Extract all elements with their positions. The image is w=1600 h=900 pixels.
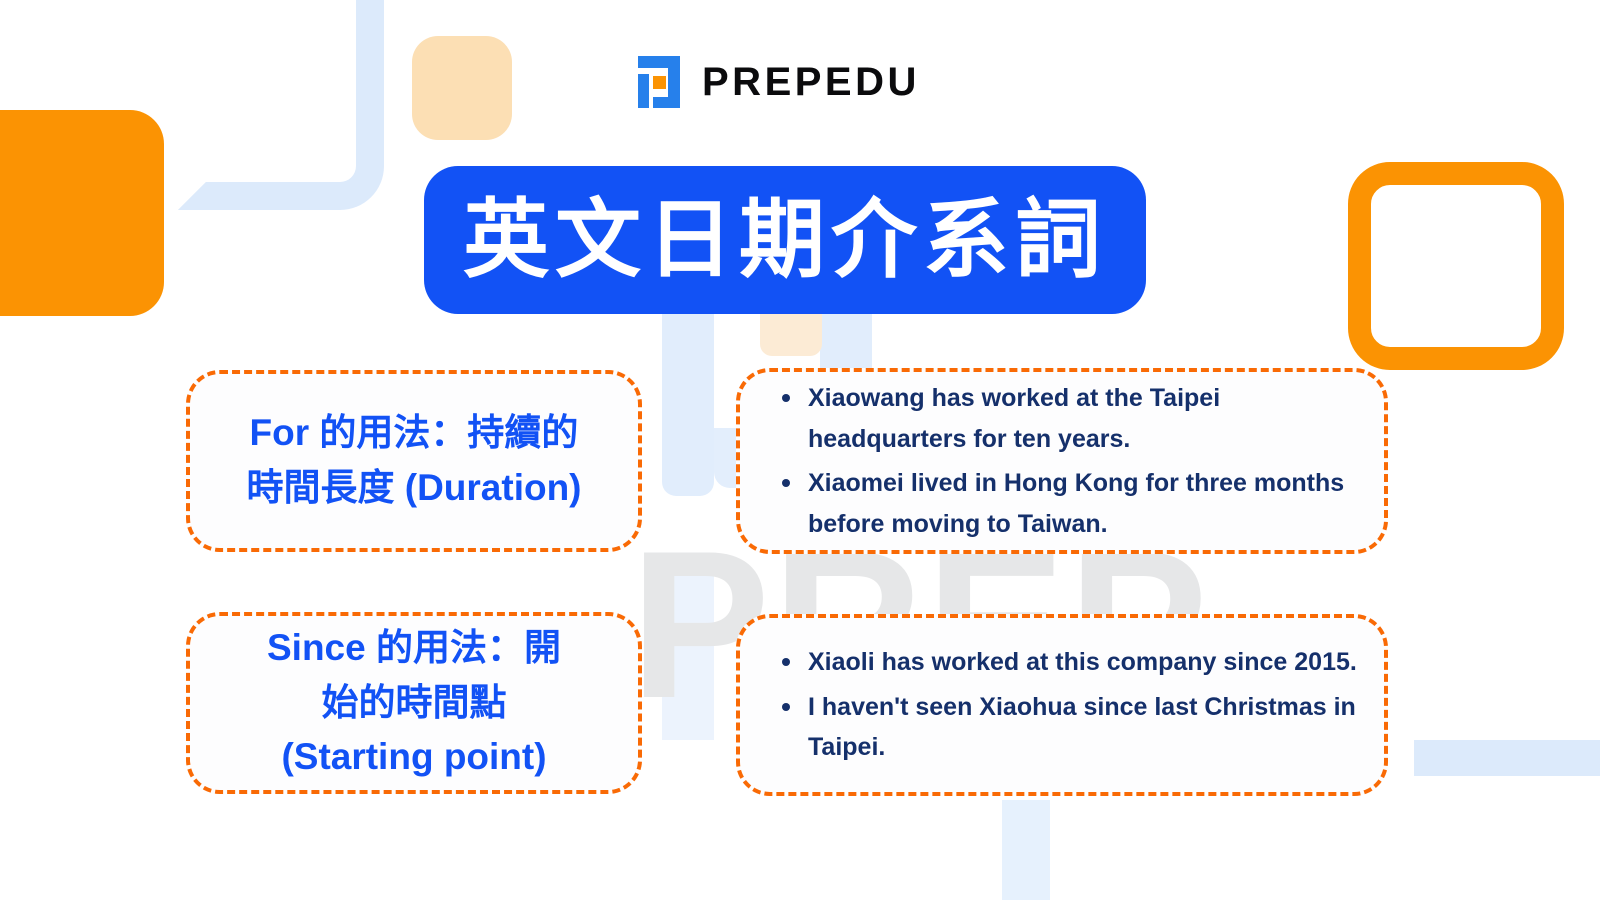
for-usage-label: For 的用法：持續的 時間長度 (Duration) xyxy=(230,406,597,516)
list-item: I haven't seen Xiaohua since last Christ… xyxy=(778,687,1358,768)
since-examples-list: Xiaoli has worked at this company since … xyxy=(778,642,1358,768)
p-letterform-stem-decoration xyxy=(662,300,714,496)
p-letterform-tail-decoration xyxy=(1002,800,1050,900)
for-examples-card: Xiaowang has worked at the Taipei headqu… xyxy=(736,368,1388,554)
brand-lockup: PREPEDU xyxy=(630,54,920,110)
since-usage-label-line-1: Since 的用法：開 xyxy=(267,621,561,676)
since-usage-label-line-3: (Starting point) xyxy=(267,730,561,785)
since-usage-label: Since 的用法：開 始的時間點 (Starting point) xyxy=(251,621,577,785)
peach-rounded-square-decoration xyxy=(412,36,512,140)
infographic-canvas: PREP PREPEDU 英文日期介系詞 For 的用法：持續的 時間長度 (D… xyxy=(0,0,1600,900)
since-usage-label-card: Since 的用法：開 始的時間點 (Starting point) xyxy=(186,612,642,794)
orange-outline-square-decoration xyxy=(1348,162,1564,370)
brand-wordmark: PREPEDU xyxy=(702,60,920,105)
peach-chip-decoration xyxy=(760,312,822,356)
list-item: Xiaomei lived in Hong Kong for three mon… xyxy=(778,463,1358,544)
prepedu-p-mark-icon xyxy=(630,54,684,110)
for-usage-label-card: For 的用法：持續的 時間長度 (Duration) xyxy=(186,370,642,552)
for-usage-label-line-2: 時間長度 (Duration) xyxy=(246,461,581,516)
for-examples-list: Xiaowang has worked at the Taipei headqu… xyxy=(778,378,1358,544)
since-examples-card: Xiaoli has worked at this company since … xyxy=(736,614,1388,796)
for-usage-label-line-1: For 的用法：持續的 xyxy=(246,406,581,461)
list-item: Xiaoli has worked at this company since … xyxy=(778,642,1358,683)
title-banner: 英文日期介系詞 xyxy=(424,166,1146,314)
page-title: 英文日期介系詞 xyxy=(463,197,1107,283)
list-item: Xiaowang has worked at the Taipei headqu… xyxy=(778,378,1358,459)
blue-bar-decoration xyxy=(1414,740,1600,776)
orange-rounded-square-decoration xyxy=(0,110,164,316)
blue-bracket-decoration xyxy=(178,0,384,210)
since-usage-label-line-2: 始的時間點 xyxy=(267,676,561,731)
